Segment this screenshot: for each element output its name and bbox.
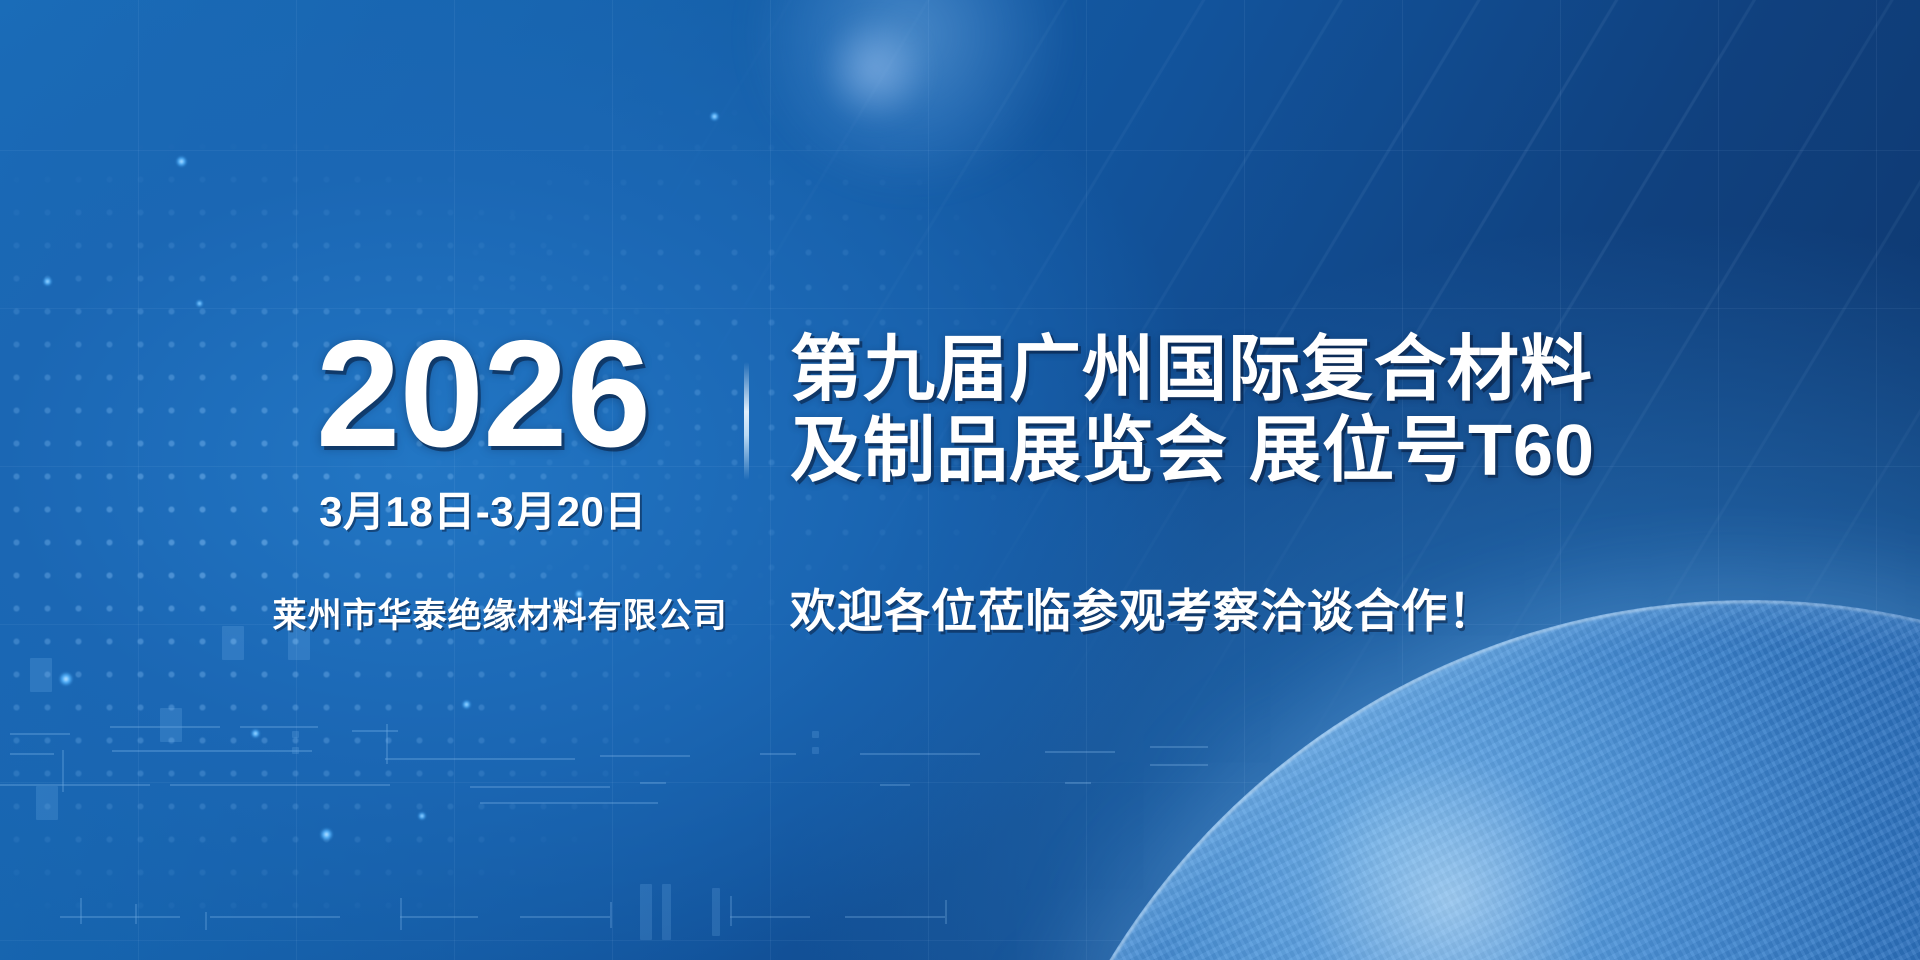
event-date-block: 2026 3月18日-3月20日 xyxy=(248,322,718,539)
welcome-message: 欢迎各位莅临参观考察洽谈合作！ xyxy=(790,575,1495,641)
event-title-block: 第九届广州国际复合材料 及制品展览会 展位号T60 xyxy=(790,330,1595,493)
event-dates: 3月18日-3月20日 xyxy=(248,478,718,539)
event-year: 2026 xyxy=(248,322,718,468)
company-name: 莱州市华泰绝缘材料有限公司 xyxy=(240,588,760,637)
vertical-divider xyxy=(744,362,749,480)
banner-content: 2026 3月18日-3月20日 莱州市华泰绝缘材料有限公司 第九届广州国际复合… xyxy=(0,0,1920,960)
event-title-line-1: 第九届广州国际复合材料 xyxy=(790,330,1595,411)
exhibition-banner: 2026 3月18日-3月20日 莱州市华泰绝缘材料有限公司 第九届广州国际复合… xyxy=(0,0,1920,960)
event-title-line-2: 及制品展览会 展位号T60 xyxy=(790,411,1595,492)
